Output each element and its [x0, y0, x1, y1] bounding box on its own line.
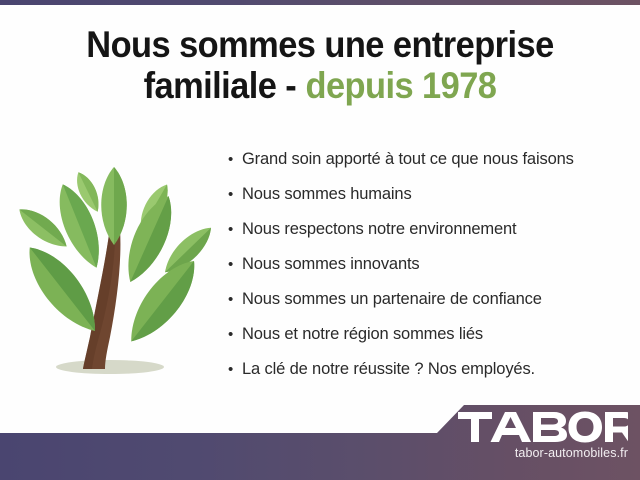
tree-leaf — [101, 167, 127, 245]
list-item-label: La clé de notre réussite ? Nos employés. — [242, 360, 628, 379]
bullet-marker-icon: • — [228, 187, 242, 202]
heading-line-2-dark: familiale - — [144, 65, 297, 106]
list-item-label: Grand soin apporté à tout ce que nous fa… — [242, 150, 628, 169]
bullet-marker-icon: • — [228, 152, 242, 167]
list-item-label: Nous sommes un partenaire de confiance — [242, 290, 628, 309]
bullet-marker-icon: • — [228, 362, 242, 377]
list-item-label: Nous sommes innovants — [242, 255, 628, 274]
tree-shadow-ellipse — [56, 360, 164, 374]
list-item-label: Nous sommes humains — [242, 185, 628, 204]
bullet-marker-icon: • — [228, 292, 242, 307]
list-item: • Nous et notre région sommes liés — [228, 325, 628, 360]
tree-leaf — [49, 179, 110, 273]
list-item: • Nous sommes innovants — [228, 255, 628, 290]
slide-canvas: Nous sommes une entreprise familiale -de… — [0, 0, 640, 480]
page-title: Nous sommes une entreprise familiale -de… — [22, 24, 617, 107]
bullet-marker-icon: • — [228, 257, 242, 272]
logo-url-text: tabor-automobiles.fr — [458, 447, 628, 461]
top-accent-strip — [0, 0, 640, 5]
bullet-marker-icon: • — [228, 327, 242, 342]
heading-line-2-green: depuis 1978 — [306, 65, 497, 106]
tree-illustration — [10, 155, 220, 390]
logo-wordmark — [458, 410, 628, 444]
bullet-marker-icon: • — [228, 222, 242, 237]
list-item: • Nous respectons notre environnement — [228, 220, 628, 255]
benefits-list: • Grand soin apporté à tout ce que nous … — [228, 150, 628, 395]
list-item: • Nous sommes humains — [228, 185, 628, 220]
list-item: • Nous sommes un partenaire de confiance — [228, 290, 628, 325]
list-item: • Grand soin apporté à tout ce que nous … — [228, 150, 628, 185]
list-item-label: Nous respectons notre environnement — [242, 220, 628, 239]
brand-logo[interactable]: tabor-automobiles.fr — [458, 410, 628, 461]
heading-line-1: Nous sommes une entreprise — [22, 24, 617, 65]
heading-line-2: familiale -depuis 1978 — [22, 65, 617, 106]
list-item: • La clé de notre réussite ? Nos employé… — [228, 360, 628, 395]
list-item-label: Nous et notre région sommes liés — [242, 325, 628, 344]
